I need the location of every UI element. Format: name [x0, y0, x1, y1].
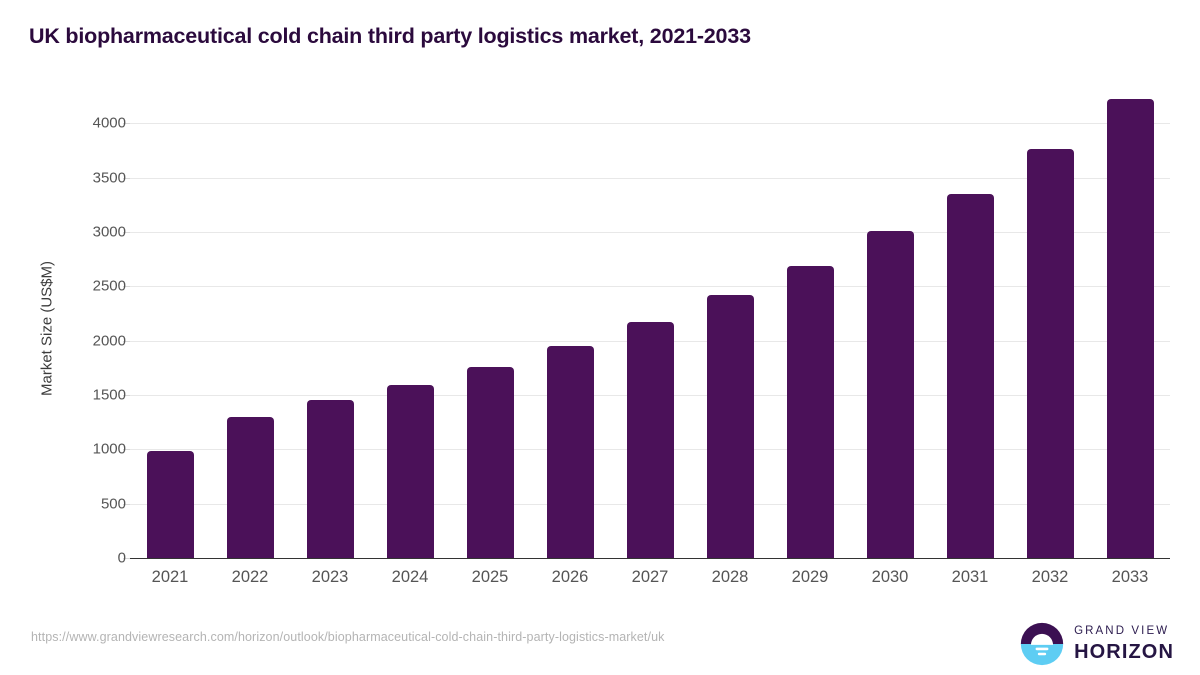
bar-2025[interactable]	[467, 367, 514, 558]
x-tick-label: 2023	[312, 568, 349, 587]
gridline	[130, 558, 1170, 559]
bar-2033[interactable]	[1107, 99, 1154, 558]
bar-2029[interactable]	[787, 266, 834, 558]
logo-wordmark: GRAND VIEW HORIZON	[1074, 626, 1174, 662]
x-tick-label: 2025	[472, 568, 509, 587]
y-tick-label: 1000	[6, 441, 126, 458]
brand-logo[interactable]: GRAND VIEW HORIZON	[1019, 620, 1174, 668]
bar-2032[interactable]	[1027, 149, 1074, 558]
bar-2030[interactable]	[867, 231, 914, 558]
x-tick-label: 2029	[792, 568, 829, 587]
bar-2031[interactable]	[947, 194, 994, 558]
x-tick-label: 2021	[152, 568, 189, 587]
source-url[interactable]: https://www.grandviewresearch.com/horizo…	[31, 630, 664, 644]
x-tick-label: 2026	[552, 568, 589, 587]
x-tick-label: 2032	[1032, 568, 1069, 587]
gridline	[130, 178, 1170, 179]
x-tick-label: 2027	[632, 568, 669, 587]
y-tick-label: 0	[6, 550, 126, 567]
gridline	[130, 232, 1170, 233]
y-tick-label: 4000	[6, 115, 126, 132]
bar-2024[interactable]	[387, 385, 434, 558]
y-tick-label: 2500	[6, 278, 126, 295]
logo-line-1: GRAND VIEW	[1074, 626, 1174, 638]
bar-2028[interactable]	[707, 295, 754, 558]
gridline	[130, 286, 1170, 287]
bar-2022[interactable]	[227, 417, 274, 558]
bar-2023[interactable]	[307, 400, 354, 558]
y-tick-label: 3000	[6, 223, 126, 240]
logo-line-2: HORIZON	[1074, 642, 1174, 662]
chart-container: Market Size (US$M) 050010001500200025003…	[0, 0, 1200, 675]
y-tick-label: 500	[6, 495, 126, 512]
grand-view-horizon-circle-icon	[1019, 621, 1065, 667]
y-tick-label: 3500	[6, 169, 126, 186]
bar-2027[interactable]	[627, 322, 674, 558]
x-tick-label: 2024	[392, 568, 429, 587]
y-tick-label: 2000	[6, 332, 126, 349]
gridline	[130, 123, 1170, 124]
y-tick-label: 1500	[6, 386, 126, 403]
x-tick-label: 2028	[712, 568, 749, 587]
x-tick-label: 2022	[232, 568, 269, 587]
x-tick-label: 2033	[1112, 568, 1149, 587]
bar-2021[interactable]	[147, 451, 194, 558]
x-tick-label: 2031	[952, 568, 989, 587]
chart-page: UK biopharmaceutical cold chain third pa…	[0, 0, 1200, 675]
bar-2026[interactable]	[547, 346, 594, 558]
x-tick-label: 2030	[872, 568, 909, 587]
plot-area: 0500100015002000250030003500400020212022…	[130, 96, 1170, 558]
